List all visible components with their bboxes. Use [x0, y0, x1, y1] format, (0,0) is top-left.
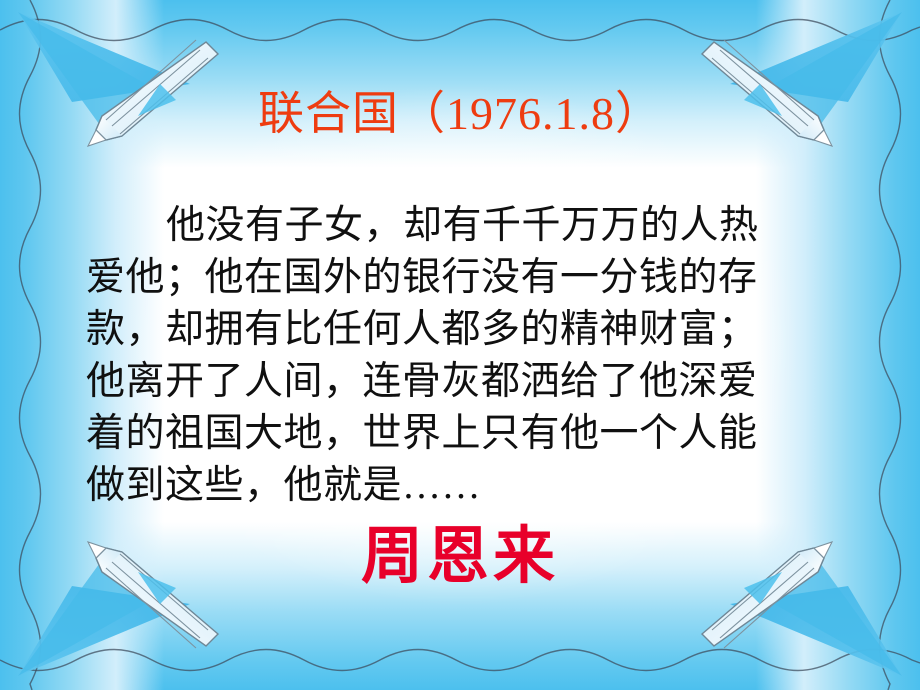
body-line: 做到这些，他就是…… — [86, 460, 800, 512]
slide-title: 联合国（1976.1.8） — [0, 85, 920, 143]
presentation-slide: 联合国（1976.1.8） 他没有子女，却有千千万万的人热 爱他；他在国外的银行… — [0, 0, 920, 690]
body-line: 他离开了人间，连骨灰都洒给了他深爱 — [86, 356, 800, 408]
slide-content: 联合国（1976.1.8） 他没有子女，却有千千万万的人热 爱他；他在国外的银行… — [0, 0, 920, 690]
body-line: 款，却拥有比任何人都多的精神财富； — [86, 304, 800, 356]
body-line: 着的祖国大地，世界上只有他一个人能 — [86, 408, 800, 460]
slide-body-text: 他没有子女，却有千千万万的人热 爱他；他在国外的银行没有一分钱的存 款，却拥有比… — [86, 200, 800, 512]
signature-name: 周恩来 — [0, 518, 920, 596]
body-line: 爱他；他在国外的银行没有一分钱的存 — [86, 252, 800, 304]
body-line: 他没有子女，却有千千万万的人热 — [86, 200, 800, 252]
